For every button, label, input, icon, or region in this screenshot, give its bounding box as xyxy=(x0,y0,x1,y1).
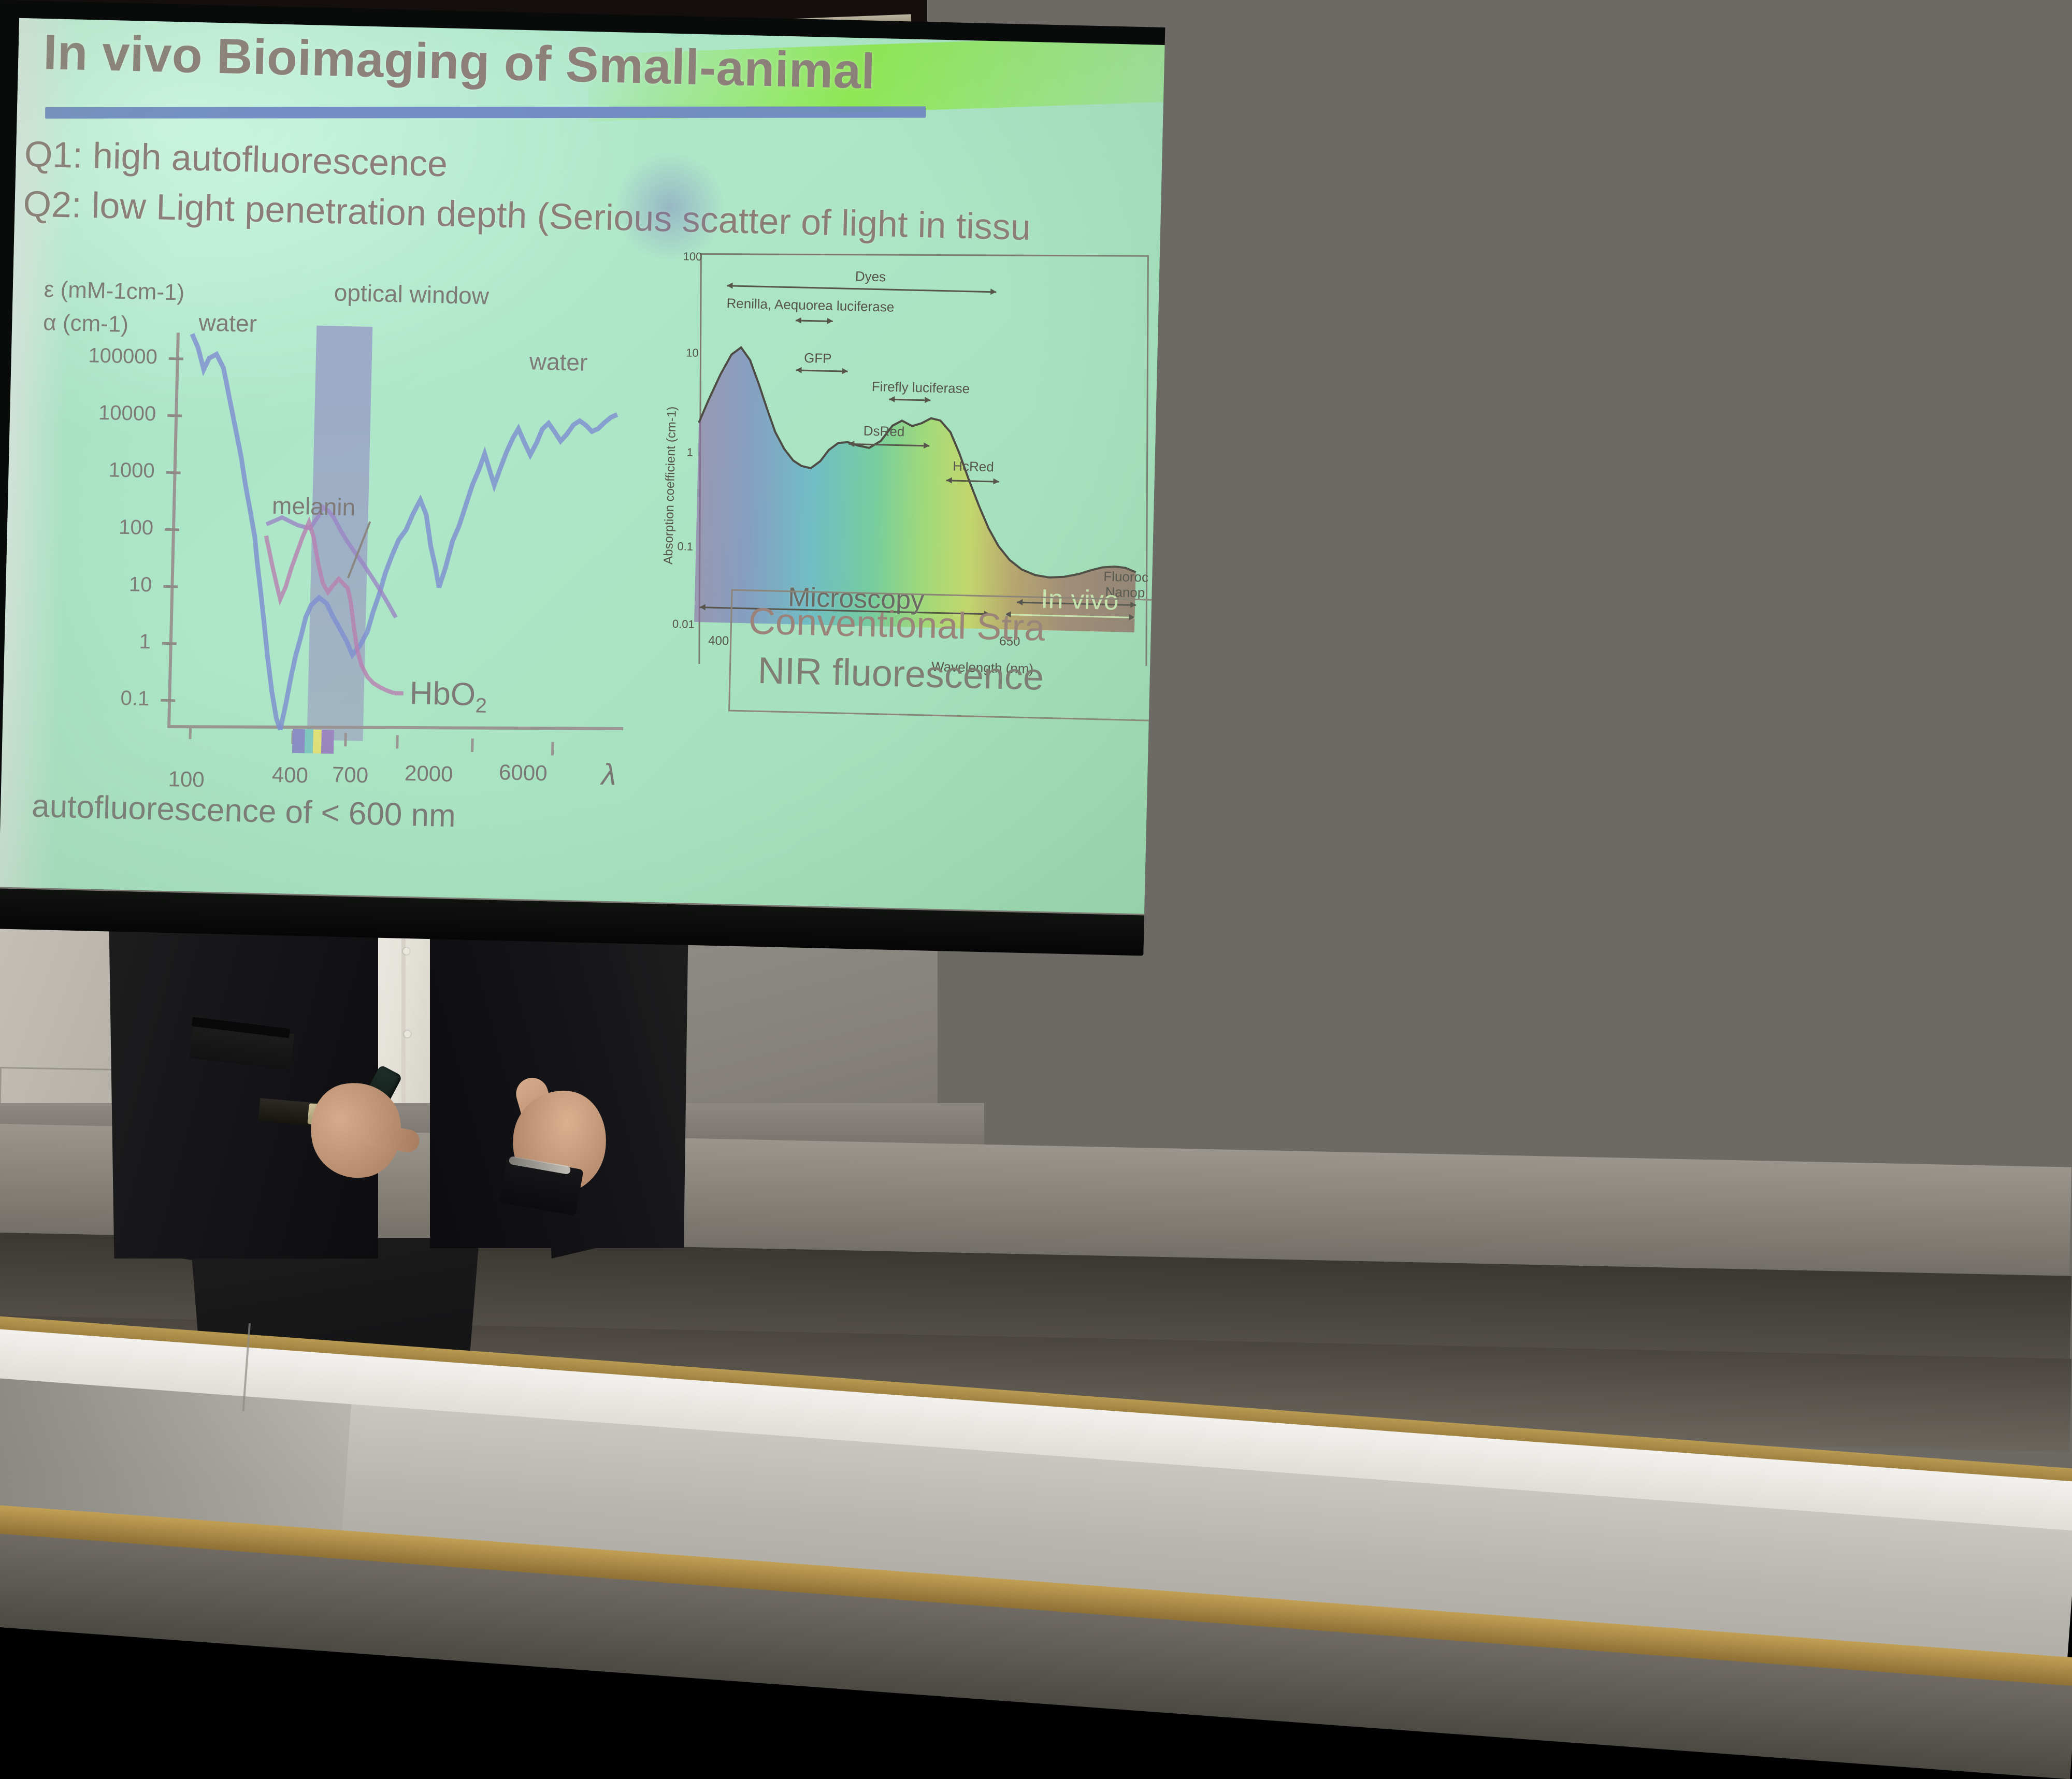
shirt-button xyxy=(404,1031,411,1037)
slide-vignette xyxy=(0,18,1165,914)
projection-screen: In vivo Bioimaging of Small-animal Q1: h… xyxy=(0,0,1165,975)
slide-canvas: In vivo Bioimaging of Small-animal Q1: h… xyxy=(0,18,1165,914)
lecture-room: In vivo Bioimaging of Small-animal Q1: h… xyxy=(0,0,2072,1554)
